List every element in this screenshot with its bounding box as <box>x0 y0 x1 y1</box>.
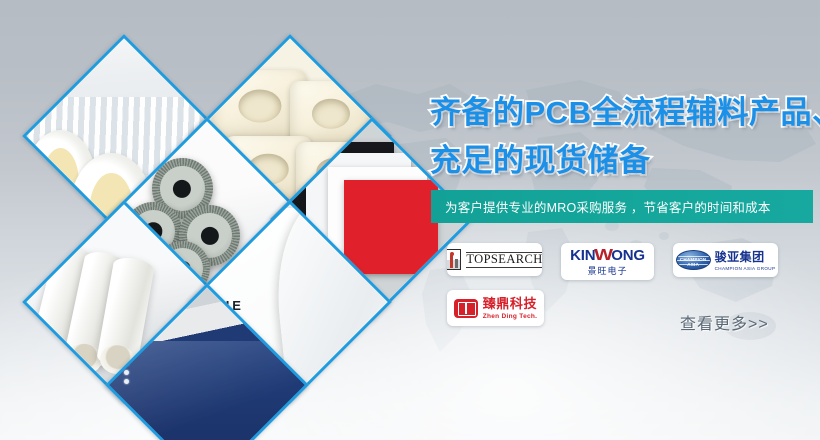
topsearch-wordmark: TOPSEARCH <box>466 252 542 268</box>
view-more-link[interactable]: 查看更多>> <box>680 310 769 334</box>
promo-banner: JIE 齐备的PCB全流程辅料产品、 充足的现货储备 为客户提供专业的MRO采购… <box>0 0 820 440</box>
champion-english-name: CHAMPION ASIA GROUP <box>715 267 776 272</box>
zhen-ding-english-name: Zhen Ding Tech. <box>483 314 538 321</box>
logo-champion-asia[interactable]: CHAMPION ASIA 骏亚集团 CHAMPION ASIA GROUP <box>673 243 778 277</box>
subtitle-text: 为客户提供专业的MRO采购服务 ，节省客户的时间和成本 <box>431 197 771 216</box>
topsearch-mark-icon <box>447 249 461 270</box>
champion-chinese-name: 骏亚集团 <box>715 250 765 264</box>
product-collage: JIE <box>0 0 420 440</box>
banner-copy: 齐备的PCB全流程辅料产品、 充足的现货储备 为客户提供专业的MRO采购服务 ，… <box>425 0 820 440</box>
kinwong-w-mark-icon: W <box>594 248 613 264</box>
zhen-ding-mark-icon <box>454 299 478 318</box>
headline-line-2: 充足的现货储备 <box>430 140 651 182</box>
logo-topsearch[interactable]: TOPSEARCH <box>447 243 542 276</box>
kinwong-word-right: ONG <box>611 248 645 263</box>
headline-line-1: 齐备的PCB全流程辅料产品、 <box>430 92 820 134</box>
kinwong-chinese-name: 景旺电子 <box>570 267 645 276</box>
logo-zhen-ding[interactable]: 臻鼎科技 Zhen Ding Tech. <box>447 290 544 326</box>
kinwong-word-left: KIN <box>570 248 595 263</box>
globe-label: CHAMPION ASIA <box>677 257 710 267</box>
subtitle-bar: 为客户提供专业的MRO采购服务 ，节省客户的时间和成本 <box>431 190 813 223</box>
globe-icon: CHAMPION ASIA <box>676 250 711 270</box>
logo-kinwong[interactable]: KIN W ONG 景旺电子 <box>561 243 654 280</box>
zhen-ding-chinese-name: 臻鼎科技 <box>483 296 537 311</box>
